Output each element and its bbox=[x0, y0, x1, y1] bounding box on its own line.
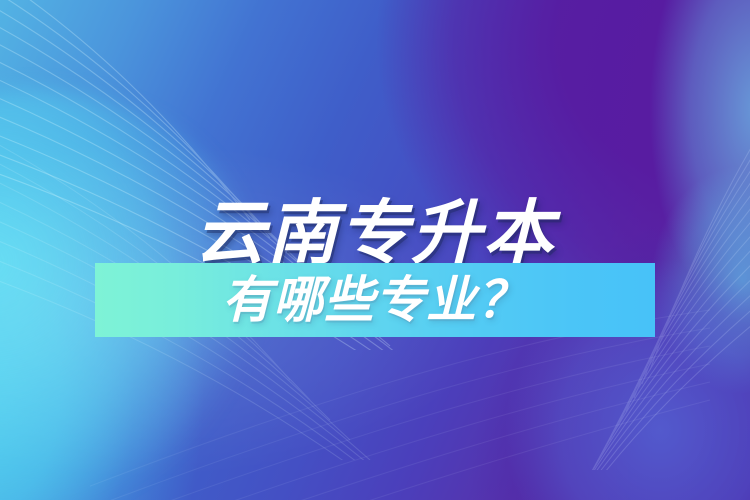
banner-headline: 云南专升本 bbox=[195, 198, 555, 268]
banner-content: 云南专升本 bbox=[0, 0, 750, 500]
promo-banner: 云南专升本 有哪些专业？ bbox=[0, 0, 750, 500]
subtitle-bar: 有哪些专业？ bbox=[95, 263, 655, 337]
banner-subtitle: 有哪些专业？ bbox=[222, 275, 528, 325]
